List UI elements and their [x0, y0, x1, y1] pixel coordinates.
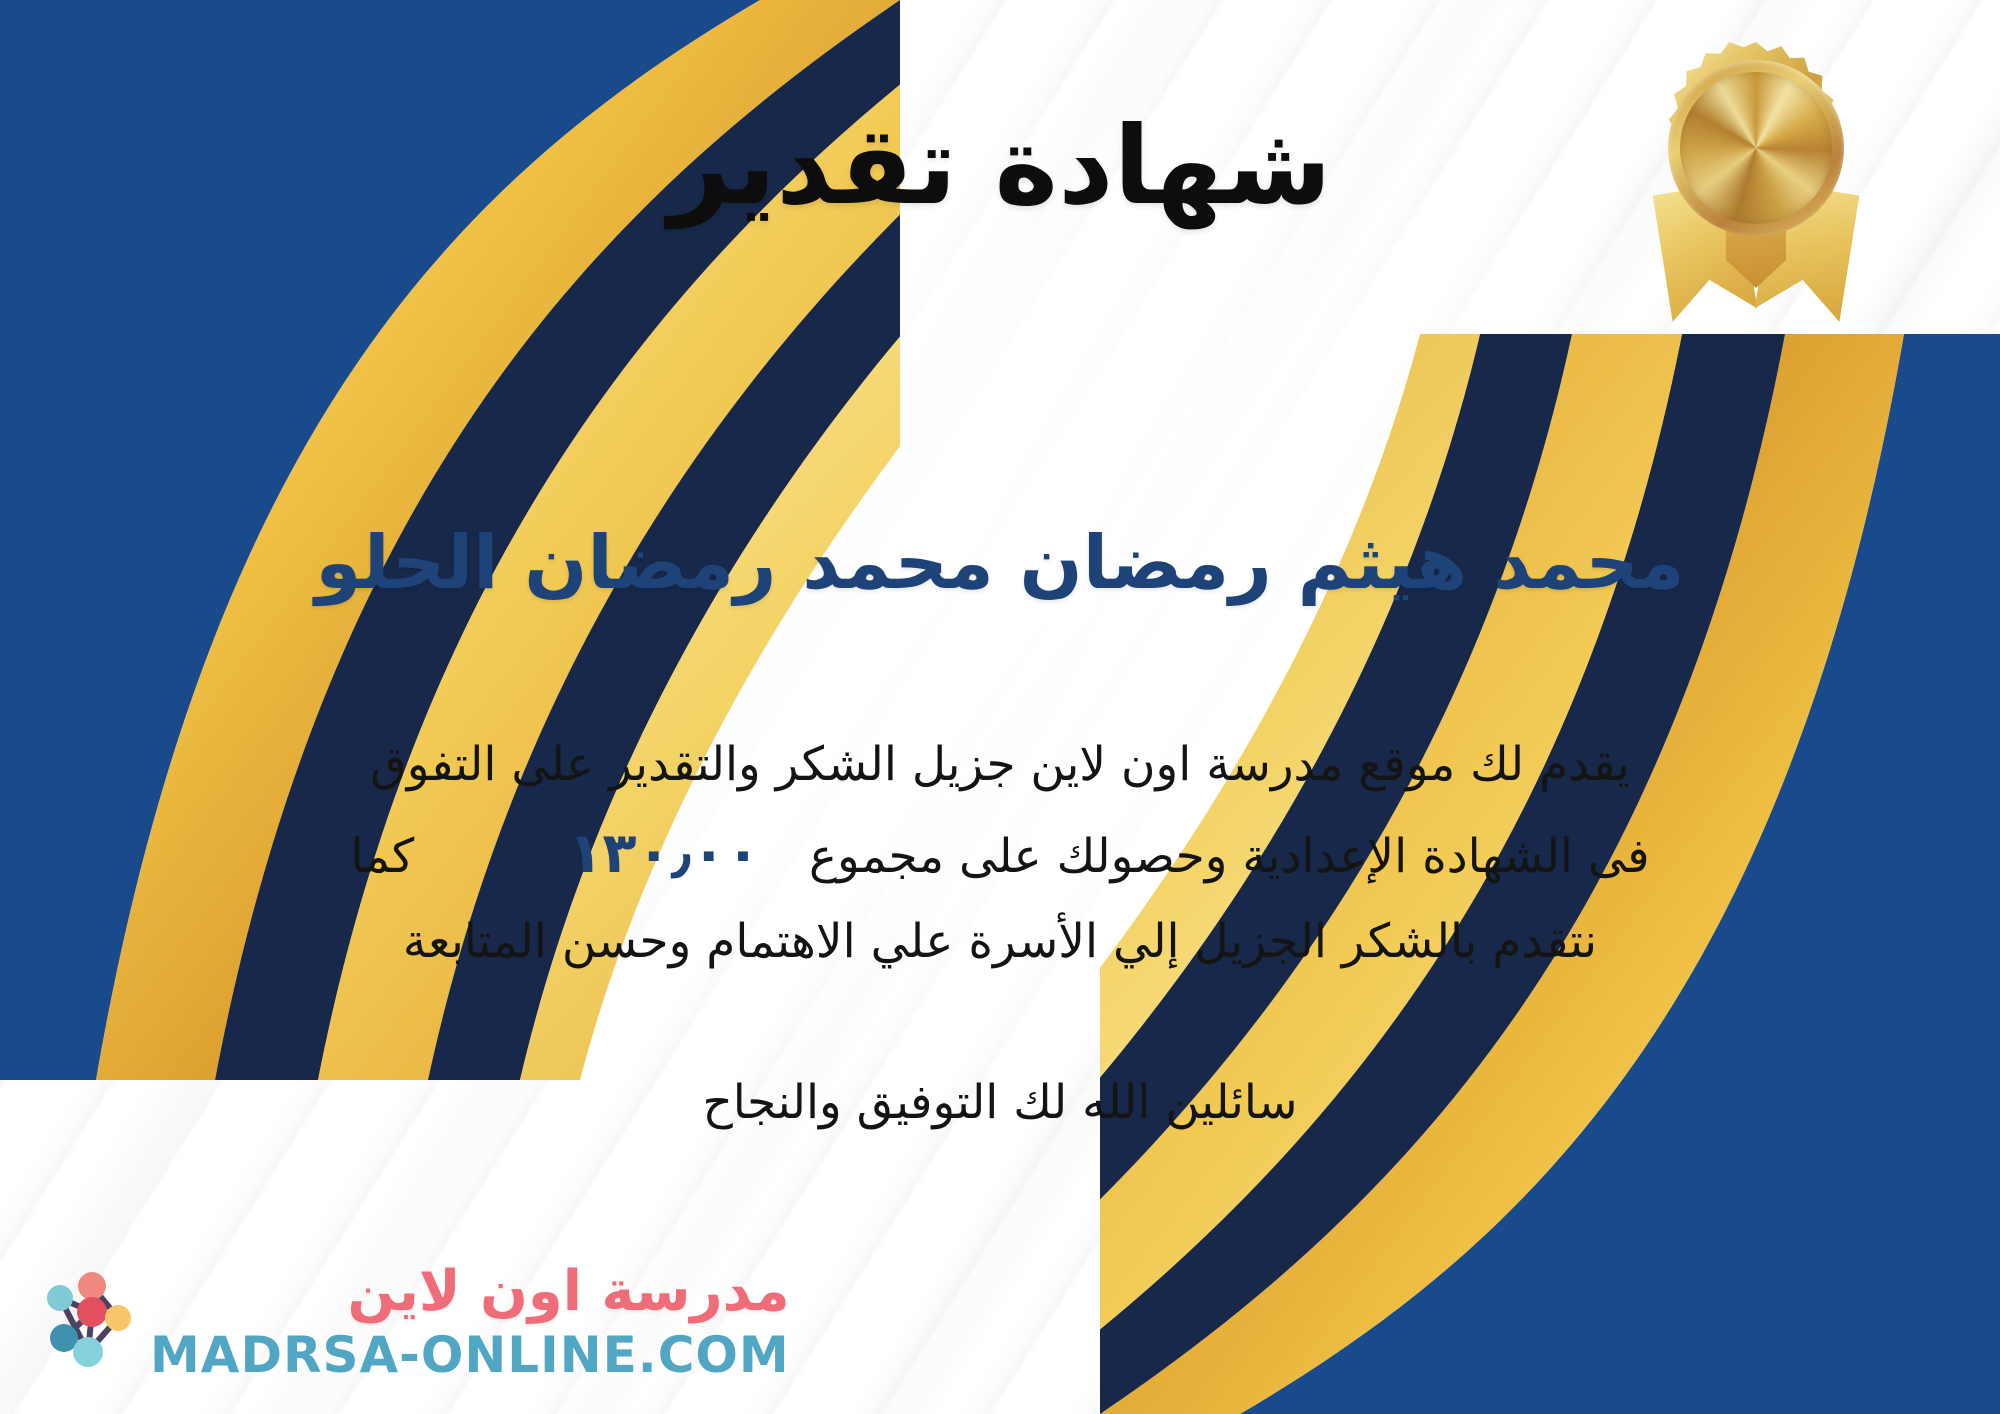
certificate-body: يقدم لك موقع مدرسة اون لاين جزيل الشكر و… — [70, 725, 1930, 983]
brand-logo[interactable]: مدرسة اون لاين MADRSA-ONLINE.COM — [30, 1264, 790, 1380]
logo-text-group: مدرسة اون لاين MADRSA-ONLINE.COM — [150, 1264, 790, 1380]
body-line-2-left: كما — [350, 829, 414, 884]
body-line-2-right: فى الشهادة الإعدادية وحصولك على مجموع — [809, 829, 1650, 884]
body-line-2: فى الشهادة الإعدادية وحصولك على مجموع ١٣… — [70, 806, 1930, 902]
certificate-content: شهادة تقدير محمد هيثم رمضان محمد رمضان ا… — [0, 0, 2000, 1414]
network-nodes-icon — [30, 1266, 142, 1378]
closing-wish: سائلين الله لك التوفيق والنجاح — [0, 1075, 2000, 1130]
grade-total-value: ١٣٠٫٠٠ — [534, 821, 794, 886]
certificate-title: شهادة تقدير — [0, 104, 2000, 229]
logo-arabic-name: مدرسة اون لاين — [150, 1264, 790, 1320]
body-line-3: نتقدم بالشكر الجزيل إلي الأسرة علي الاهت… — [70, 902, 1930, 983]
recipient-name: محمد هيثم رمضان محمد رمضان الحلو — [0, 520, 2000, 606]
logo-domain: MADRSA-ONLINE.COM — [150, 1330, 790, 1380]
body-line-1: يقدم لك موقع مدرسة اون لاين جزيل الشكر و… — [70, 725, 1930, 806]
certificate-canvas: شهادة تقدير محمد هيثم رمضان محمد رمضان ا… — [0, 0, 2000, 1414]
